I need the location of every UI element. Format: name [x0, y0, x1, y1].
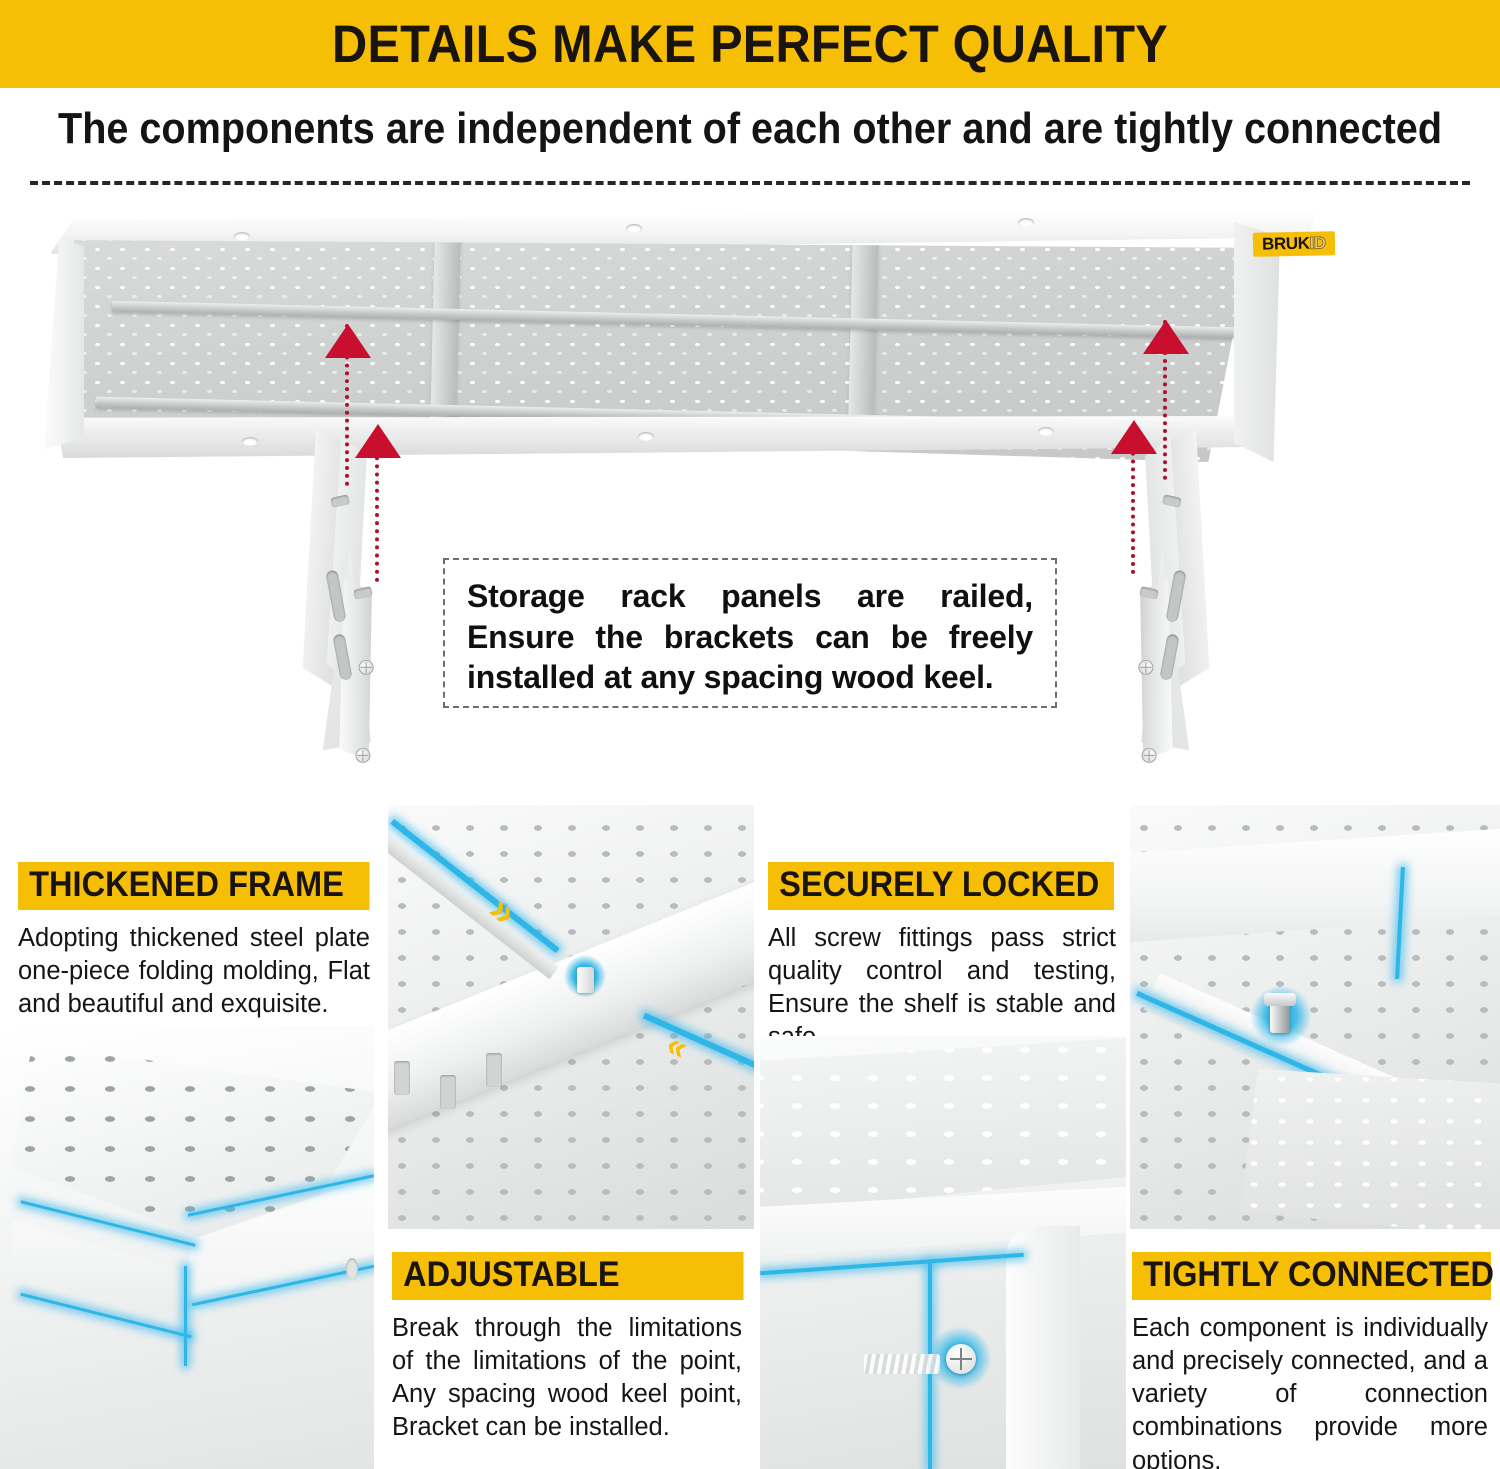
feature-body-thickened-frame: Adopting thickened steel plate one-piece… — [18, 922, 370, 1021]
feature-photo-thickened-frame — [0, 1026, 374, 1469]
wall-bracket-right — [1099, 429, 1222, 760]
panel-screw-hole — [638, 432, 654, 441]
bracket-screw — [355, 748, 370, 763]
brand-logo: BRUKID — [1253, 231, 1335, 257]
alignment-arrow-up — [325, 324, 371, 358]
callout-box: Storage rack panels are railed, Ensure t… — [443, 558, 1057, 708]
bracket-screw — [1138, 660, 1153, 675]
panel-screw-hole — [1018, 218, 1034, 227]
bracket-screw — [359, 660, 374, 675]
brand-name-secondary: ID — [1309, 233, 1326, 252]
feature-title-thickened-frame: THICKENED FRAME — [18, 862, 370, 910]
header-divider — [30, 181, 1470, 185]
bracket-screw — [1142, 748, 1157, 763]
callout-text: Storage rack panels are railed, Ensure t… — [467, 576, 1033, 698]
feature-photo-tightly-connected — [1130, 805, 1500, 1229]
bracket-slot — [394, 1061, 410, 1095]
bracket-slot — [486, 1053, 502, 1087]
feature-body-tightly-connected: Each component is individually and preci… — [1132, 1312, 1488, 1469]
page-subtitle: The components are independent of each o… — [75, 95, 1425, 163]
panel-screw-hole — [1038, 427, 1054, 436]
alignment-arrow-up — [1143, 320, 1189, 354]
highlight-edge-vertical — [184, 1266, 187, 1366]
feature-photo-securely-locked — [760, 1036, 1126, 1469]
panel-screw-hole — [242, 437, 258, 446]
panel-hole — [346, 1258, 358, 1280]
feature-title-adjustable: ADJUSTABLE — [392, 1252, 744, 1300]
infographic-page: DETAILS MAKE PERFECT QUALITY The compone… — [0, 0, 1500, 1469]
feature-body-adjustable: Break through the limitations of the lim… — [392, 1312, 742, 1445]
panel-right-end-cap — [1234, 222, 1280, 462]
feature-photo-adjustable: » » — [388, 805, 754, 1229]
bolt-shaft — [577, 967, 594, 993]
hero-product-illustration: BRUKID — [0, 196, 1500, 796]
feature-title-securely-locked: SECURELY LOCKED — [768, 862, 1116, 910]
page-title: DETAILS MAKE PERFECT QUALITY — [60, 2, 1440, 86]
panel-left-end-cap — [44, 238, 84, 450]
wall-bracket-left — [291, 429, 414, 760]
lower-perforated-panel — [1240, 1069, 1500, 1229]
screw-head — [946, 1344, 976, 1374]
screw-thread — [864, 1354, 940, 1374]
panel-screw-hole — [626, 224, 642, 233]
brand-name-primary: BRUK — [1262, 234, 1310, 254]
panel-screw-hole — [234, 232, 250, 241]
feature-body-securely-locked: All screw fittings pass strict quality c… — [768, 922, 1116, 1055]
alignment-arrow-up — [355, 424, 401, 458]
bracket-post — [1006, 1226, 1080, 1469]
alignment-arrow-up — [1111, 420, 1157, 454]
bolt-head — [1264, 993, 1296, 1006]
bracket-slot — [440, 1075, 456, 1109]
feature-title-tightly-connected: TIGHTLY CONNECTED — [1132, 1252, 1492, 1300]
